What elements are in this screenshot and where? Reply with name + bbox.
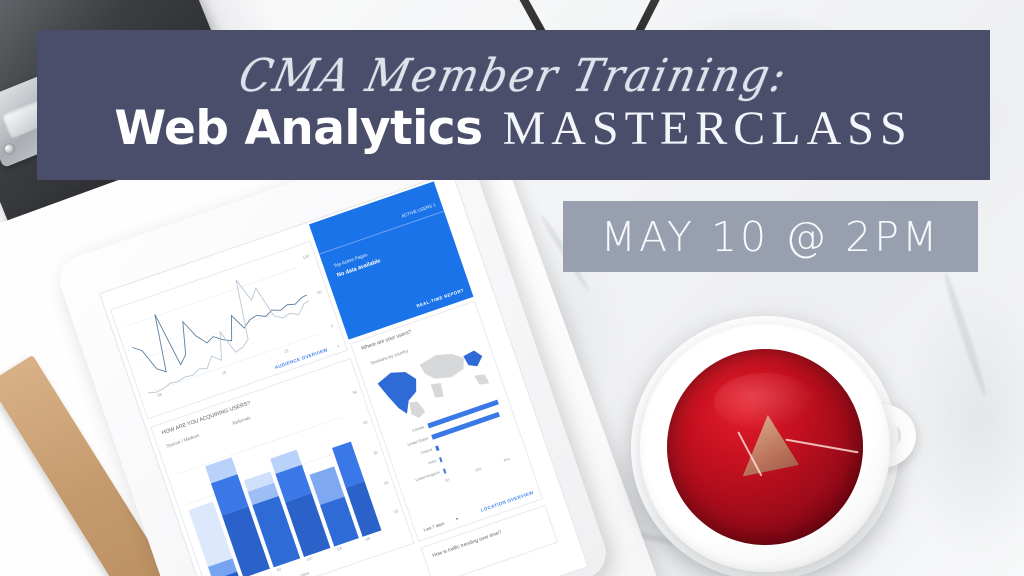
line-ytick: 100 [302,253,310,260]
pct-tick: 40% [503,457,511,463]
country-bar [443,468,447,473]
date-banner: MAY 10 @ 2PM [563,201,978,272]
promo-graphic: 100 50 0 08 15 22 AUDIENCE OVERVIEW › [0,0,1024,576]
pct-tick: 20% [475,467,483,473]
bar-chart-svg [168,398,382,576]
hibiscus-tea [667,349,863,545]
traffic-trend-question: How is traffic trending over time? [432,530,503,559]
bar-xtick: 05 [365,536,371,542]
bar-xtick: 03 [306,556,312,562]
acquisition-metric[interactable]: Referrals [232,415,251,426]
headline: Web Analytics MASTERCLASS [114,101,912,156]
pct-tick: 0% [444,478,450,483]
bar-ytick: 20 [383,480,389,486]
bar-xtick: 04 [336,545,342,551]
chevron-right-icon[interactable]: › [336,343,339,348]
country-bar [431,412,500,440]
country-bar [435,445,439,451]
script-subtitle: CMA Member Training: [235,53,791,98]
headline-serif-part: MASTERCLASS [503,101,913,156]
clip-screw [3,143,15,155]
tea-cup [640,324,890,572]
caret-down-icon[interactable]: ▾ [455,516,459,521]
bar-ytick: 40 [362,419,368,425]
headline-bold-part: Web Analytics [114,101,482,156]
location-overview-link[interactable]: LOCATION OVERVIEW [480,490,534,513]
country-bar [439,457,443,462]
line-ytick: 50 [316,289,322,295]
divider [319,211,444,255]
event-date-text: MAY 10 @ 2PM [601,213,941,261]
title-banner: CMA Member Training: Web Analytics MASTE… [37,30,990,180]
bar-legend-other: Other [299,570,310,576]
world-map-icon [367,333,501,431]
tea-bag-string [785,439,858,453]
line-ytick: 0 [330,323,334,328]
date-range-selector[interactable]: Last 7 days [423,521,445,533]
bar-xtick: 02 [276,566,282,572]
bar-ytick: 50 [352,389,358,395]
bar-ytick: 10 [393,508,399,514]
bar-ytick: 30 [373,449,379,455]
